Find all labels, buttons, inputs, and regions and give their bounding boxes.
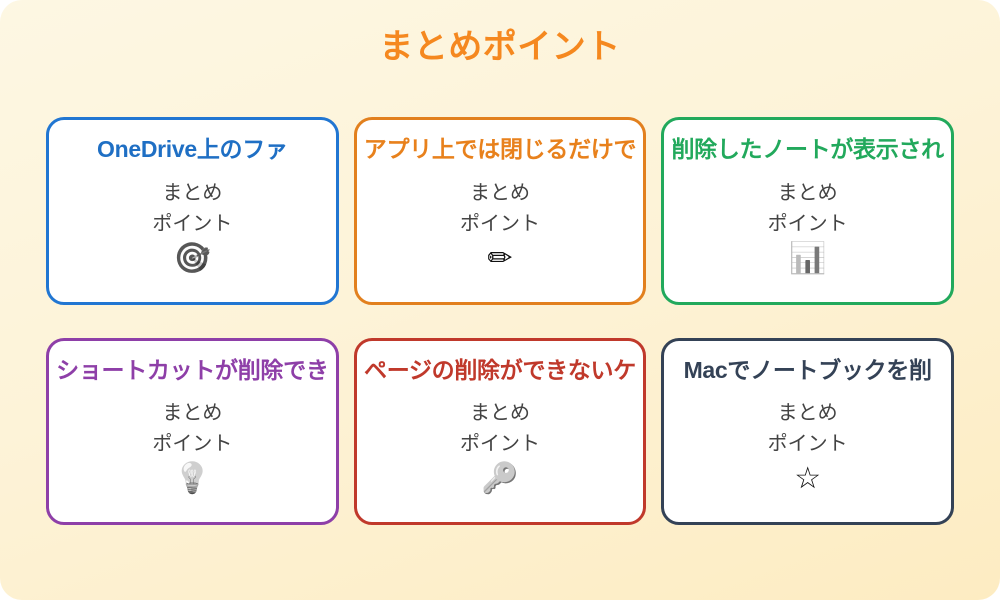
bar-chart-icon: 📊 (789, 244, 826, 274)
card-title: OneDrive上のファ (97, 136, 288, 164)
card-body: まとめ ポイント (768, 178, 848, 240)
summary-points-slide: まとめポイント OneDrive上のファ まとめ ポイント 🎯 アプリ上では閉じ… (0, 0, 1000, 600)
card-body: まとめ ポイント (460, 178, 540, 240)
card-body: まとめ ポイント (152, 178, 232, 240)
summary-card-6[interactable]: Macでノートブックを削 まとめ ポイント ☆ (661, 338, 954, 526)
card-title: アプリ上では閉じるだけで (364, 136, 636, 164)
card-title: 削除したノートが表示され (671, 136, 943, 164)
card-body: まとめ ポイント (768, 398, 848, 460)
dart-target-icon: 🎯 (174, 244, 211, 274)
star-icon: ☆ (794, 464, 821, 494)
card-title: ショートカットが削除でき (56, 357, 328, 385)
card-title: Macでノートブックを削 (684, 357, 932, 385)
summary-card-3[interactable]: 削除したノートが表示され まとめ ポイント 📊 (661, 117, 954, 305)
card-title: ページの削除ができないケ (364, 357, 636, 385)
page-title: まとめポイント (0, 26, 1000, 69)
summary-card-1[interactable]: OneDrive上のファ まとめ ポイント 🎯 (46, 117, 339, 305)
card-body: まとめ ポイント (152, 398, 232, 460)
summary-card-5[interactable]: ページの削除ができないケ まとめ ポイント 🔑 (354, 338, 647, 526)
card-body: まとめ ポイント (460, 398, 540, 460)
summary-card-4[interactable]: ショートカットが削除でき まとめ ポイント 💡 (46, 338, 339, 526)
summary-card-2[interactable]: アプリ上では閉じるだけで まとめ ポイント ✏ (354, 117, 647, 305)
light-bulb-icon: 💡 (174, 464, 211, 494)
key-icon: 🔑 (481, 464, 518, 494)
summary-card-grid: OneDrive上のファ まとめ ポイント 🎯 アプリ上では閉じるだけで まとめ… (46, 117, 954, 525)
pencil-icon: ✏ (487, 244, 512, 274)
